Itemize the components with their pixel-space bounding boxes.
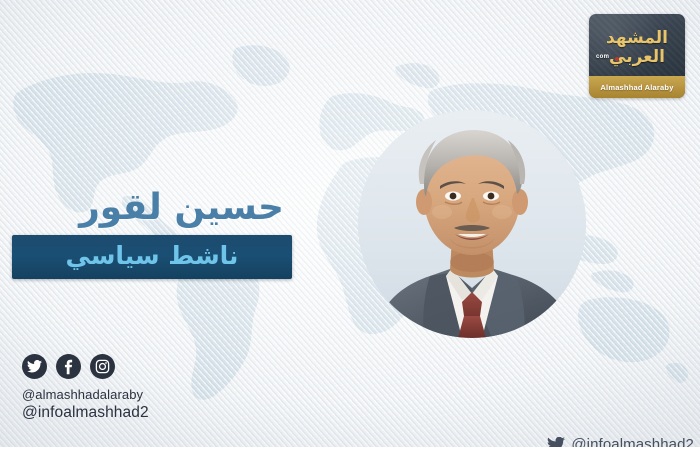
brand-logo[interactable]: المشهد العربي com Almashhad Alaraby (589, 14, 685, 98)
logo-banner: Almashhad Alaraby (589, 76, 685, 98)
portrait-container (348, 100, 596, 348)
logo-arabic-line-1: المشهد (589, 30, 685, 47)
person-title: ناشط سياسي (26, 241, 278, 271)
social-handle-secondary[interactable]: @infoalmashhad2 (22, 403, 149, 423)
logo-com-label: com (596, 54, 609, 60)
portrait-photo (358, 110, 586, 338)
social-handle-primary[interactable]: @almashhadalaraby (22, 386, 149, 403)
bottom-white-strip (0, 447, 700, 459)
social-media-card: المشهد العربي com Almashhad Alaraby (0, 0, 700, 459)
social-icons-row (22, 354, 149, 379)
logo-banner-text: Almashhad Alaraby (600, 83, 673, 92)
logo-dot-icon (615, 57, 619, 61)
page-title: حسين لقور (12, 186, 292, 230)
facebook-icon[interactable] (56, 354, 81, 379)
twitter-icon[interactable] (22, 354, 47, 379)
social-block: @almashhadalaraby @infoalmashhad2 (22, 354, 149, 423)
status-badge: ناشط سياسي (12, 235, 292, 279)
instagram-icon[interactable] (90, 354, 115, 379)
name-block: حسين لقور ناشط سياسي (12, 186, 292, 279)
